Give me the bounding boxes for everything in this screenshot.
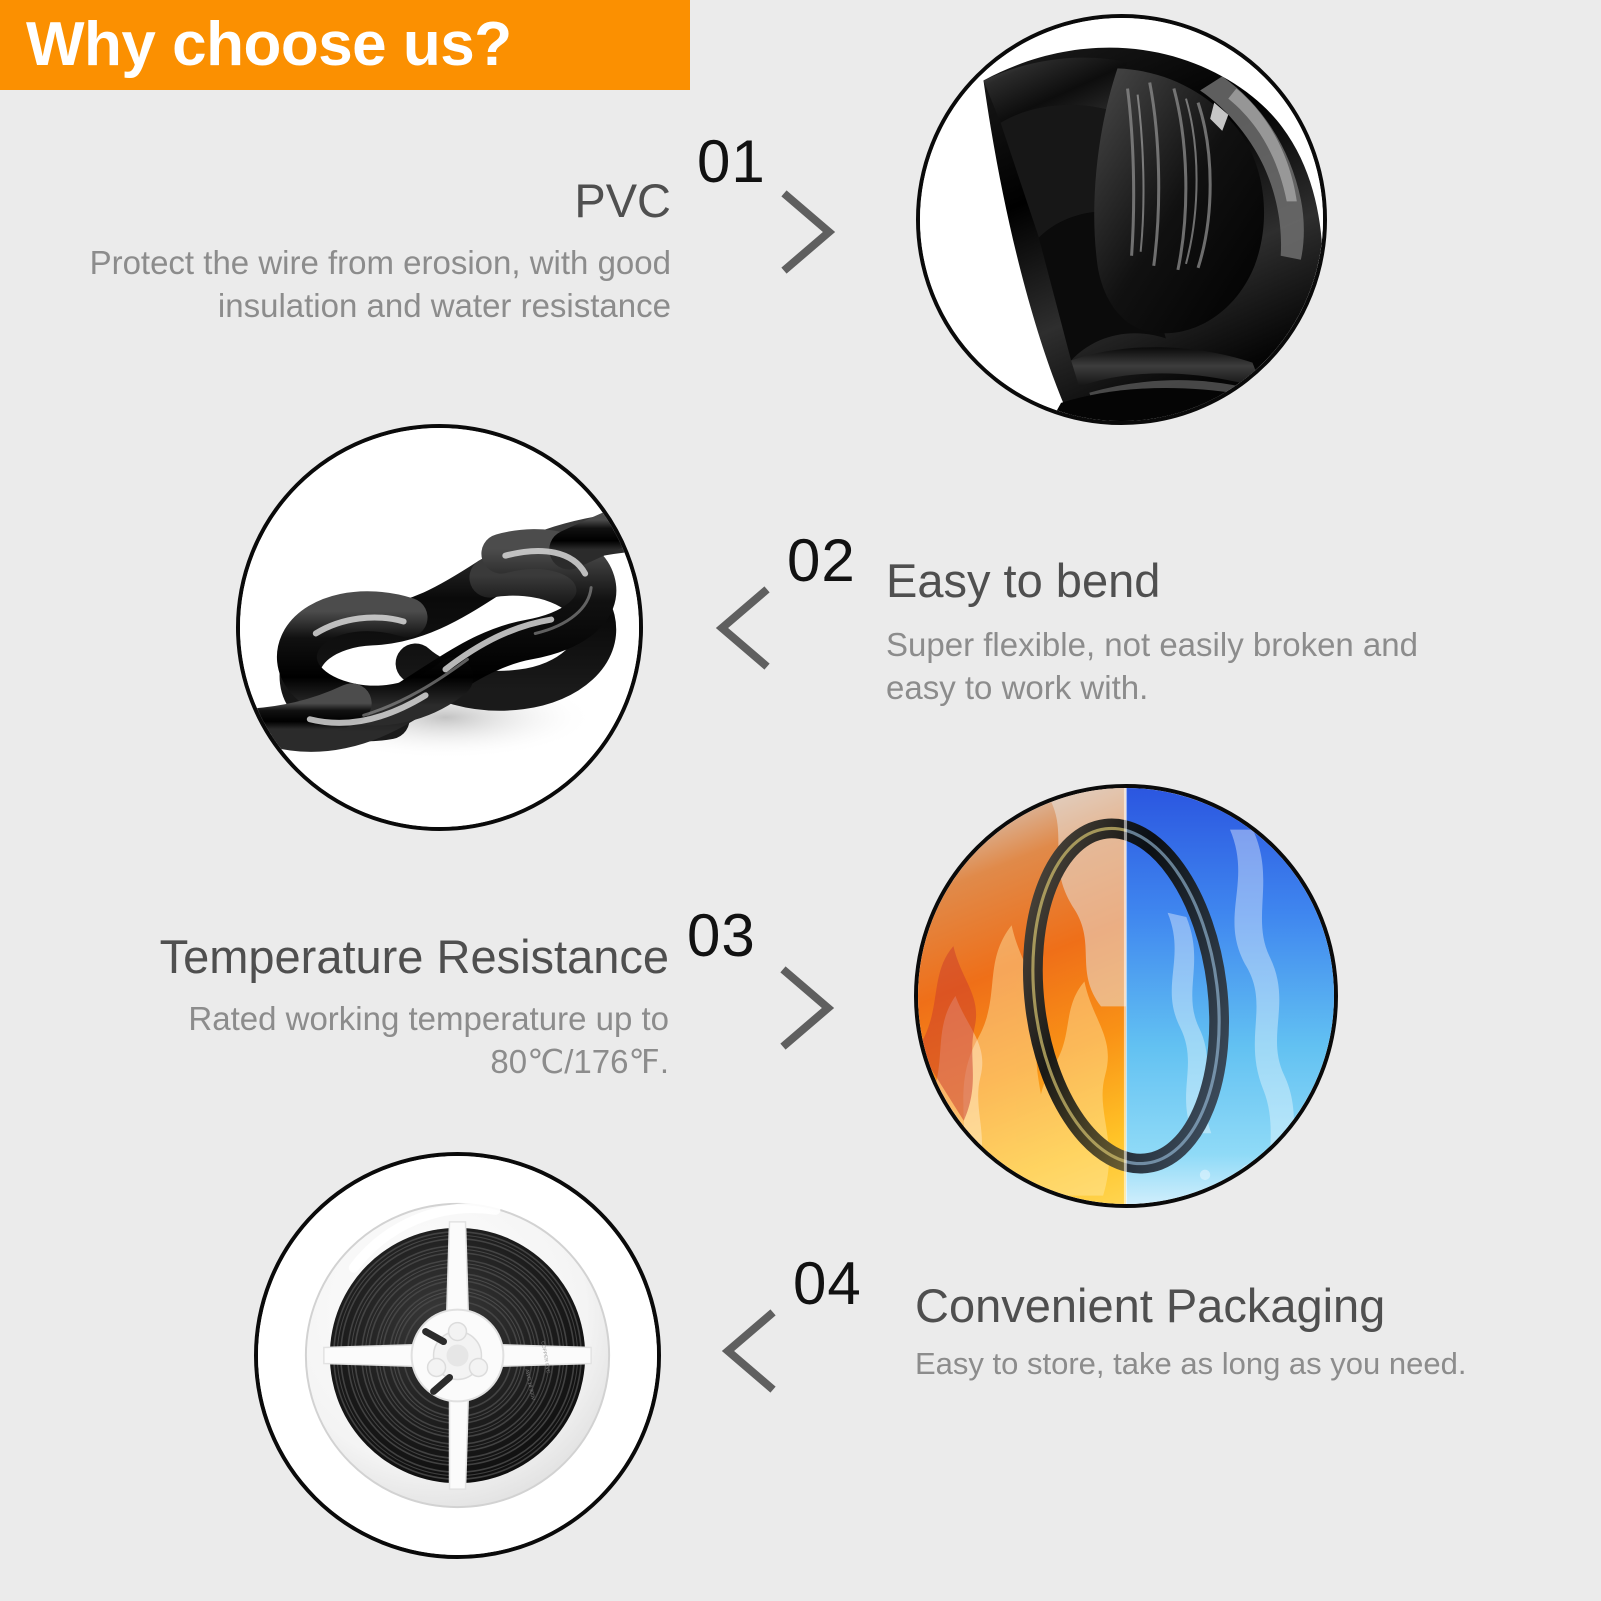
chevron-left-icon (712, 586, 772, 670)
infographic-page: Why choose us? PVC Protect the wire from… (0, 0, 1601, 1601)
chevron-left-icon (718, 1309, 778, 1393)
feature-02-text-block: Easy to bend Super flexible, not easily … (886, 556, 1486, 710)
feature-01-description: Protect the wire from erosion, with good… (31, 241, 671, 328)
feature-01-text-block: PVC Protect the wire from erosion, with … (31, 176, 671, 328)
feature-03-image-fire-and-ice (914, 784, 1338, 1208)
feature-03-title: Temperature Resistance (29, 932, 669, 983)
feature-03-description: Rated working temperature up to 80℃/176℉… (29, 997, 669, 1084)
feature-04-image-cable-spool: AWG 18 300V COPPER PVC (254, 1152, 661, 1559)
header-banner: Why choose us? (0, 0, 690, 90)
chevron-right-icon (779, 190, 839, 274)
feature-02-image-knotted-cable (236, 424, 643, 831)
feature-02-description: Super flexible, not easily broken and ea… (886, 623, 1486, 710)
chevron-right-icon (778, 966, 838, 1050)
feature-03-text-block: Temperature Resistance Rated working tem… (29, 932, 669, 1084)
feature-03-number: 03 (687, 906, 756, 966)
feature-01-number: 01 (697, 132, 766, 192)
feature-04-title: Convenient Packaging (915, 1281, 1555, 1332)
feature-04-description: Easy to store, take as long as you need. (915, 1344, 1555, 1385)
feature-04-number: 04 (793, 1254, 862, 1314)
page-title: Why choose us? (0, 14, 512, 76)
feature-01-image-pvc-cable (916, 14, 1327, 425)
feature-04-text-block: Convenient Packaging Easy to store, take… (915, 1281, 1555, 1385)
feature-02-number: 02 (787, 531, 856, 591)
feature-01-title: PVC (31, 176, 671, 227)
feature-02-title: Easy to bend (886, 556, 1486, 607)
